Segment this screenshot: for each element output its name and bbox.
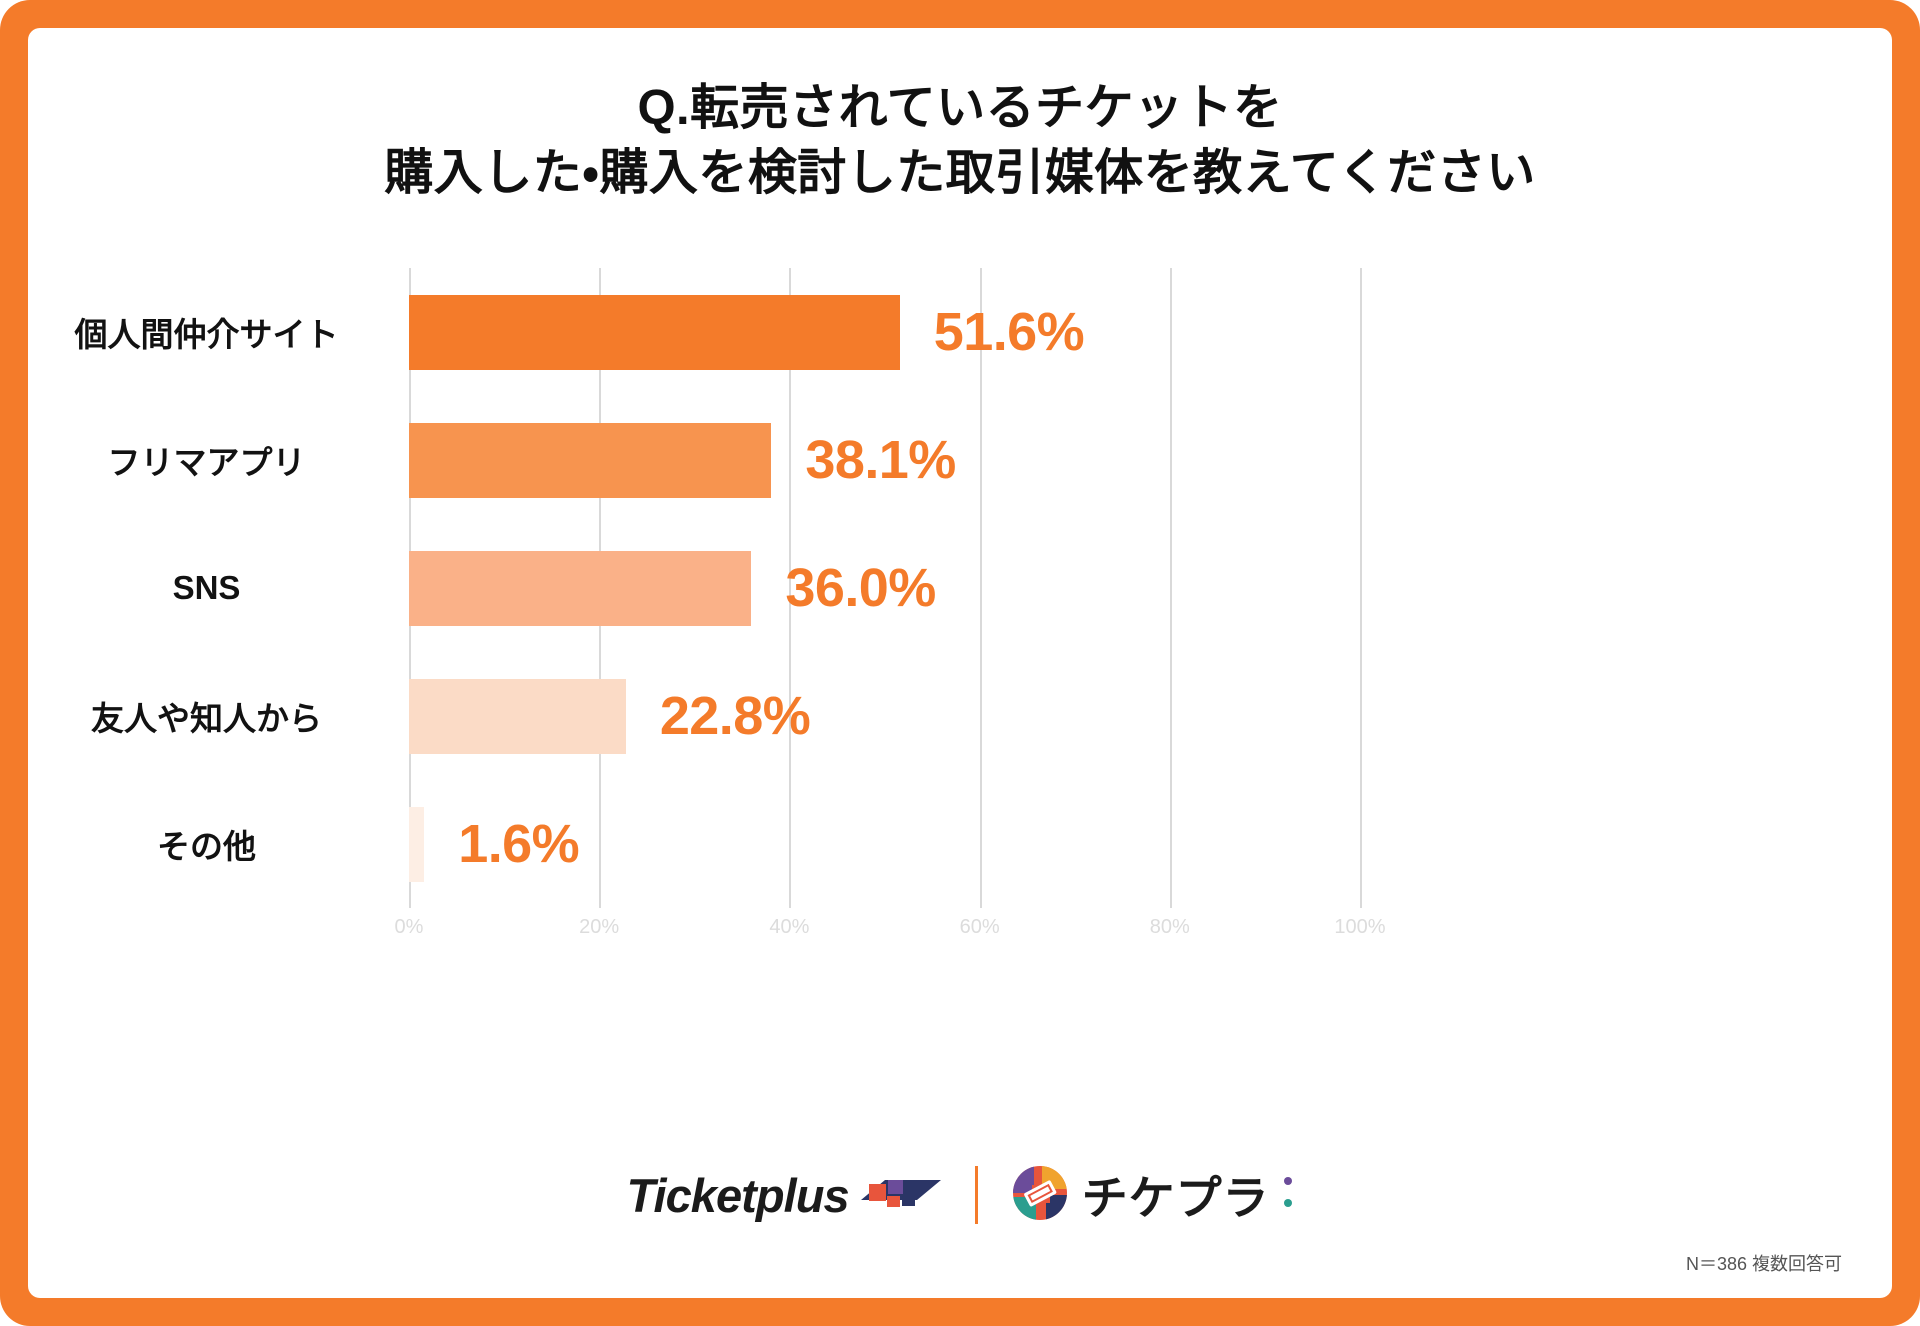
bar-value-label: 38.1% bbox=[805, 429, 955, 491]
category-label: 友人や知人から bbox=[91, 692, 322, 740]
ticket-circle-icon bbox=[1012, 1165, 1068, 1226]
x-axis-tick-label: 0% bbox=[395, 916, 424, 939]
category-axis: 個人間仲介サイト フリマアプリ SNS 友人や知人から その他 bbox=[28, 268, 409, 908]
chikepla-logo[interactable]: チケプラ bbox=[1012, 1162, 1294, 1228]
category-label: その他 bbox=[157, 820, 256, 868]
category-label-cell: 個人間仲介サイト bbox=[28, 268, 409, 396]
category-label-cell: SNS bbox=[28, 524, 409, 652]
flag-mark-icon bbox=[861, 1170, 941, 1221]
ticketplus-logo[interactable]: Ticketplus bbox=[627, 1168, 941, 1223]
bar-value-label: 36.0% bbox=[785, 557, 935, 619]
bar-rows: 51.6% 38.1% 36.0% 22.8% bbox=[409, 268, 1360, 908]
bar bbox=[409, 807, 424, 882]
bar-value-label: 1.6% bbox=[458, 813, 579, 875]
page-title: Q.転売されているチケットを 購入した・購入を検討した取引媒体を教えてください bbox=[28, 76, 1892, 206]
bar-row: 51.6% bbox=[409, 268, 1360, 396]
x-axis-tick-label: 80% bbox=[1150, 916, 1190, 939]
bar bbox=[409, 423, 771, 498]
x-axis-tick-label: 40% bbox=[769, 916, 809, 939]
title-line-1: Q.転売されているチケットを bbox=[28, 76, 1892, 141]
category-label-cell: フリマアプリ bbox=[28, 396, 409, 524]
poster-body: Q.転売されているチケットを 購入した・購入を検討した取引媒体を教えてください … bbox=[28, 28, 1892, 1298]
plot-area: 51.6% 38.1% 36.0% 22.8% bbox=[409, 268, 1360, 908]
category-label: フリマアプリ bbox=[108, 436, 306, 484]
bar-value-label: 51.6% bbox=[934, 301, 1084, 363]
x-axis: 0%20%40%60%80%100% bbox=[409, 916, 1360, 956]
ticketplus-wordmark: Ticketplus bbox=[627, 1168, 849, 1223]
bar-chart: 個人間仲介サイト フリマアプリ SNS 友人や知人から その他 bbox=[28, 268, 1892, 968]
x-axis-tick-label: 100% bbox=[1334, 916, 1385, 939]
bar-value-label: 22.8% bbox=[660, 685, 810, 747]
poster-frame: Q.転売されているチケットを 購入した・購入を検討した取引媒体を教えてください … bbox=[0, 0, 1920, 1326]
category-label-cell: 友人や知人から bbox=[28, 652, 409, 780]
title-line-2: 購入した・購入を検討した取引媒体を教えてください bbox=[28, 141, 1892, 206]
category-label-cell: その他 bbox=[28, 780, 409, 908]
bar-row: 22.8% bbox=[409, 652, 1360, 780]
footer-logos: Ticketplus bbox=[28, 1162, 1892, 1228]
x-axis-tick-label: 20% bbox=[579, 916, 619, 939]
bar bbox=[409, 551, 751, 626]
chikepla-wordmark: チケプラ bbox=[1082, 1162, 1270, 1228]
bar bbox=[409, 679, 626, 754]
bar-row: 1.6% bbox=[409, 780, 1360, 908]
bar-row: 38.1% bbox=[409, 396, 1360, 524]
bar bbox=[409, 295, 900, 370]
gridline bbox=[1360, 268, 1362, 908]
x-axis-tick-label: 60% bbox=[960, 916, 1000, 939]
vertical-divider bbox=[975, 1166, 978, 1224]
chikepla-accent-dots bbox=[1283, 1173, 1293, 1218]
category-label: SNS bbox=[173, 569, 241, 607]
bar-row: 36.0% bbox=[409, 524, 1360, 652]
category-label: 個人間仲介サイト bbox=[75, 308, 339, 356]
sample-size-note: N＝386 複数回答可 bbox=[1686, 1250, 1842, 1276]
